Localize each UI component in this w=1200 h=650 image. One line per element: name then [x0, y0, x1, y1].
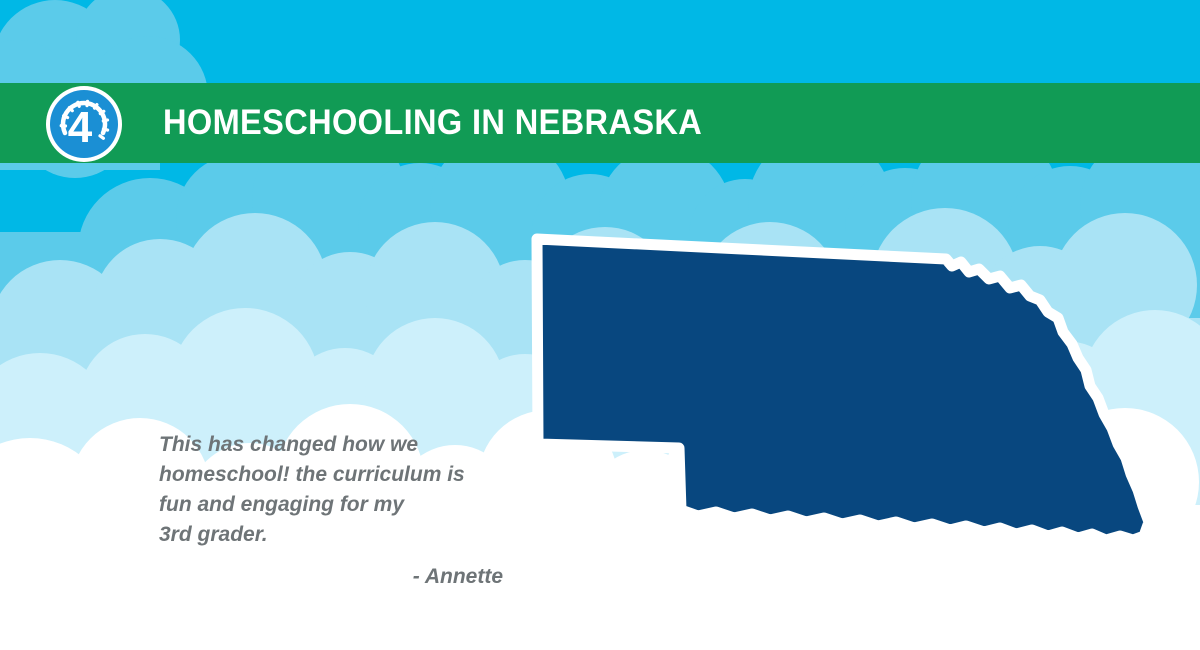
step-number-badge: 4 — [45, 85, 123, 163]
testimonial-quote: This has changed how we homeschool! the … — [159, 430, 519, 550]
page-title: HOMESCHOOLING IN NEBRASKA — [163, 83, 702, 163]
badge-number: 4 — [68, 103, 93, 152]
infographic-canvas: HOMESCHOOLING IN NEBRASKA — [0, 0, 1200, 650]
nebraska-outline-path — [537, 239, 1149, 540]
testimonial-block: This has changed how we homeschool! the … — [159, 430, 519, 592]
testimonial-author: - Annette — [159, 562, 519, 592]
